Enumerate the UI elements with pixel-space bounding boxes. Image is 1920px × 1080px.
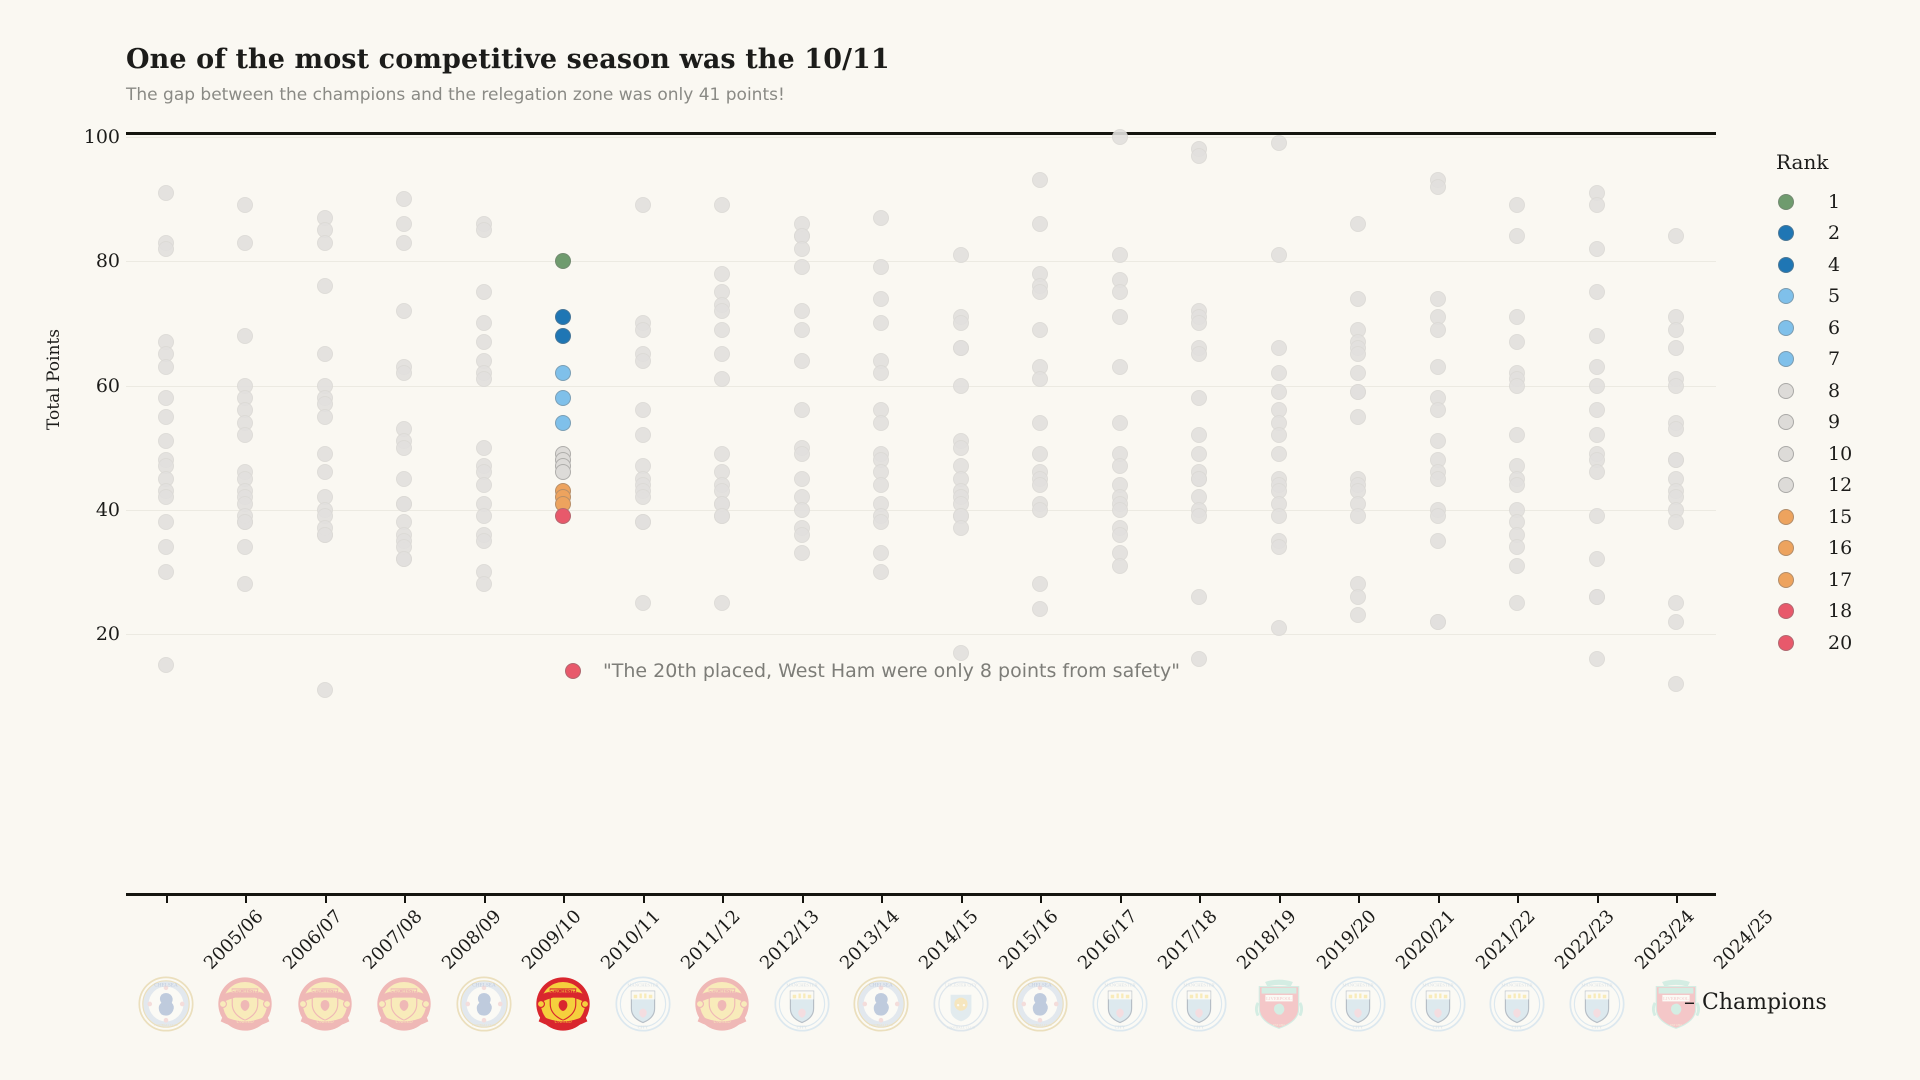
data-point — [794, 545, 810, 561]
svg-text:MANCHESTER: MANCHESTER — [1581, 984, 1613, 989]
data-point — [1589, 241, 1605, 257]
data-point — [1668, 514, 1684, 530]
gridline — [126, 386, 1716, 387]
data-point — [714, 303, 730, 319]
svg-text:UNITED: UNITED — [316, 1020, 334, 1025]
data-point — [1350, 365, 1366, 381]
x-axis-tick-label: 2013/14 — [836, 906, 904, 974]
data-point — [158, 657, 174, 673]
champion-badge-icon: LIVERPOOL EST 1892 — [1250, 975, 1308, 1033]
data-point — [1032, 172, 1048, 188]
data-point — [1032, 601, 1048, 617]
data-point — [1668, 340, 1684, 356]
data-point — [1430, 508, 1446, 524]
data-point — [1589, 464, 1605, 480]
legend-item-label: 12 — [1828, 474, 1852, 496]
data-point — [1271, 620, 1287, 636]
champion-badge-icon: CHELSEA FOOTBALL CLUB — [1011, 975, 1069, 1033]
legend-item[interactable]: 18 — [1778, 596, 1908, 628]
data-point — [158, 514, 174, 530]
svg-text:CITY: CITY — [1194, 1025, 1205, 1030]
data-point — [1271, 446, 1287, 462]
data-point — [1668, 228, 1684, 244]
svg-text:MANCHESTER: MANCHESTER — [707, 989, 739, 994]
data-point — [873, 514, 889, 530]
data-point — [1668, 452, 1684, 468]
x-axis-tick — [881, 893, 883, 903]
data-point — [1668, 595, 1684, 611]
champion-badge-icon: MANCHESTER UNITED — [296, 975, 354, 1033]
data-point — [1668, 676, 1684, 692]
data-point — [953, 315, 969, 331]
x-axis-tick-label: 2024/25 — [1710, 906, 1778, 974]
svg-text:FOOTBALL CLUB: FOOTBALL CLUB — [870, 1023, 893, 1027]
legend-item[interactable]: 17 — [1778, 564, 1908, 596]
data-point — [476, 284, 492, 300]
data-point — [317, 446, 333, 462]
legend-title: Rank — [1776, 150, 1908, 174]
data-point — [1430, 291, 1446, 307]
legend-swatch-icon — [1778, 225, 1794, 241]
data-point — [794, 527, 810, 543]
data-point — [1350, 384, 1366, 400]
data-point — [1032, 446, 1048, 462]
legend-item-label: 20 — [1828, 632, 1852, 654]
data-point — [794, 259, 810, 275]
data-point — [794, 353, 810, 369]
data-point — [237, 197, 253, 213]
champion-badge-icon: MANCHESTER CITY — [614, 975, 672, 1033]
data-point — [396, 216, 412, 232]
legend-item[interactable]: 2 — [1778, 218, 1908, 250]
data-point — [1271, 427, 1287, 443]
x-axis-tick-label: 2009/10 — [518, 906, 586, 974]
data-point — [1350, 607, 1366, 623]
data-point — [635, 197, 651, 213]
legend-item-label: 6 — [1828, 317, 1840, 339]
data-point — [1430, 433, 1446, 449]
data-point — [1509, 309, 1525, 325]
data-point — [953, 645, 969, 661]
legend-item-label: 15 — [1828, 506, 1852, 528]
data-point — [1112, 284, 1128, 300]
data-point — [1589, 651, 1605, 667]
data-point — [317, 682, 333, 698]
svg-text:MANCHESTER: MANCHESTER — [1422, 984, 1454, 989]
data-point — [714, 595, 730, 611]
data-point — [476, 533, 492, 549]
data-point — [1271, 135, 1287, 151]
data-point — [1032, 477, 1048, 493]
svg-text:CHELSEA: CHELSEA — [870, 983, 894, 989]
x-axis-tick-label: 2012/13 — [756, 906, 824, 974]
svg-text:MANCHESTER: MANCHESTER — [1104, 984, 1136, 989]
legend-swatch-icon — [1778, 257, 1794, 273]
legend-item[interactable]: 4 — [1778, 249, 1908, 281]
data-point — [1032, 576, 1048, 592]
svg-text:MANCHESTER: MANCHESTER — [389, 989, 421, 994]
legend-swatch-icon — [1778, 446, 1794, 462]
legend-item-label: 9 — [1828, 411, 1840, 433]
data-point — [1350, 409, 1366, 425]
legend-item-label: 4 — [1828, 254, 1840, 276]
legend-item-label: 1 — [1828, 191, 1840, 213]
data-point — [1430, 359, 1446, 375]
svg-text:UNITED: UNITED — [396, 1020, 414, 1025]
data-point — [1589, 328, 1605, 344]
scatter-plot-area: 20406080100 — [126, 133, 1716, 893]
data-point — [873, 365, 889, 381]
data-point — [1350, 346, 1366, 362]
data-point — [1350, 291, 1366, 307]
data-point — [1430, 471, 1446, 487]
svg-text:FOOTBALL CLUB: FOOTBALL CLUB — [472, 1023, 495, 1027]
legend-swatch-icon — [1778, 509, 1794, 525]
svg-text:UNITED: UNITED — [714, 1020, 732, 1025]
data-point — [873, 477, 889, 493]
data-point — [1589, 402, 1605, 418]
data-point — [794, 446, 810, 462]
rank-legend: Rank 1245678910121516171820 — [1778, 150, 1908, 659]
data-point — [794, 241, 810, 257]
svg-text:CITY: CITY — [1114, 1025, 1125, 1030]
legend-swatch-icon — [1778, 351, 1794, 367]
champion-badge-icon: CHELSEA FOOTBALL CLUB — [455, 975, 513, 1033]
legend-item[interactable]: 16 — [1778, 533, 1908, 565]
data-point — [158, 185, 174, 201]
data-point — [1509, 334, 1525, 350]
legend-swatch-icon — [1778, 603, 1794, 619]
data-point — [317, 346, 333, 362]
chart-subtitle: The gap between the champions and the re… — [126, 85, 1726, 105]
legend-swatch-icon — [1778, 320, 1794, 336]
data-point — [396, 191, 412, 207]
data-point — [1430, 322, 1446, 338]
data-point — [1668, 378, 1684, 394]
svg-text:UNITED: UNITED — [237, 1020, 255, 1025]
svg-text:UNITED: UNITED — [555, 1020, 573, 1025]
legend-item[interactable]: 15 — [1778, 501, 1908, 533]
data-point — [317, 235, 333, 251]
legend-swatch-icon — [1778, 540, 1794, 556]
data-point-highlighted — [555, 309, 571, 325]
y-axis-tick-label: 60 — [60, 375, 120, 397]
data-point — [1589, 589, 1605, 605]
x-axis-tick — [1120, 893, 1122, 903]
champion-badge-icon: MANCHESTER UNITED — [534, 975, 592, 1033]
svg-text:LIVERPOOL: LIVERPOOL — [1266, 997, 1292, 1002]
x-axis-tick — [1517, 893, 1519, 903]
annotation-text: "The 20th placed, West Ham were only 8 p… — [603, 660, 1180, 682]
data-point — [873, 315, 889, 331]
champion-badge-icon: MANCHESTER CITY — [1488, 975, 1546, 1033]
data-point — [476, 334, 492, 350]
data-point — [635, 489, 651, 505]
data-point — [1509, 228, 1525, 244]
champion-badge-icon: MANCHESTER UNITED — [375, 975, 433, 1033]
data-point — [635, 514, 651, 530]
x-axis-tick — [325, 893, 327, 903]
x-axis-tick-label: 2014/15 — [915, 906, 983, 974]
y-axis-tick-label: 20 — [60, 623, 120, 645]
data-point — [1430, 179, 1446, 195]
x-axis-tick — [484, 893, 486, 903]
data-point — [714, 371, 730, 387]
data-point — [1589, 508, 1605, 524]
champion-badge-icon: MANCHESTER UNITED — [216, 975, 274, 1033]
svg-text:EST 1892: EST 1892 — [1273, 1023, 1285, 1027]
x-axis-tick-label: 2016/17 — [1074, 906, 1142, 974]
data-point — [1112, 502, 1128, 518]
data-point — [794, 502, 810, 518]
x-axis-line — [126, 893, 1716, 896]
data-point — [1191, 148, 1207, 164]
x-axis-tick — [722, 893, 724, 903]
svg-text:MANCHESTER: MANCHESTER — [1343, 984, 1375, 989]
x-axis-tick — [1279, 893, 1281, 903]
svg-text:EST 1892: EST 1892 — [1670, 1023, 1682, 1027]
data-point — [237, 235, 253, 251]
data-point — [953, 340, 969, 356]
data-point-highlighted — [555, 253, 571, 269]
svg-text:FOOTBALL CLUB: FOOTBALL CLUB — [1029, 1023, 1052, 1027]
svg-text:MANCHESTER: MANCHESTER — [786, 984, 818, 989]
data-point-highlighted — [555, 365, 571, 381]
data-point — [635, 402, 651, 418]
x-axis-tick — [802, 893, 804, 903]
data-point — [158, 539, 174, 555]
data-point — [1112, 558, 1128, 574]
data-point — [1032, 216, 1048, 232]
svg-text:LEICESTER CITY: LEICESTER CITY — [945, 983, 977, 988]
data-point — [476, 508, 492, 524]
x-axis-tick-label: 2022/23 — [1551, 906, 1619, 974]
legend-item[interactable]: 9 — [1778, 407, 1908, 439]
data-point — [396, 365, 412, 381]
data-point — [317, 527, 333, 543]
x-axis-tick-label: 2017/18 — [1154, 906, 1222, 974]
champion-badge-icon: MANCHESTER CITY — [1568, 975, 1626, 1033]
data-point — [1589, 359, 1605, 375]
data-point — [1191, 315, 1207, 331]
data-point — [635, 595, 651, 611]
x-axis-tick-label: 2023/24 — [1631, 906, 1699, 974]
svg-text:MANCHESTER: MANCHESTER — [1184, 984, 1216, 989]
data-point — [873, 210, 889, 226]
data-point — [953, 520, 969, 536]
data-point — [396, 496, 412, 512]
data-point — [714, 346, 730, 362]
data-point — [1112, 415, 1128, 431]
x-axis-tick-label: 2006/07 — [279, 906, 347, 974]
data-point — [1191, 471, 1207, 487]
data-point — [1112, 458, 1128, 474]
data-point — [1589, 551, 1605, 567]
x-axis-tick-label: 2007/08 — [359, 906, 427, 974]
svg-text:CITY: CITY — [1512, 1025, 1523, 1030]
champion-badge-icon: MANCHESTER CITY — [1170, 975, 1228, 1033]
legend-item[interactable]: 10 — [1778, 438, 1908, 470]
data-point — [953, 247, 969, 263]
svg-text:CITY: CITY — [637, 1025, 648, 1030]
data-point — [1509, 197, 1525, 213]
data-point — [873, 545, 889, 561]
data-point — [714, 266, 730, 282]
legend-item-label: 8 — [1828, 380, 1840, 402]
champion-badge-icon: MANCHESTER UNITED — [693, 975, 751, 1033]
data-point — [317, 278, 333, 294]
data-point — [714, 446, 730, 462]
y-axis-tick-label: 100 — [60, 126, 120, 148]
data-point — [714, 322, 730, 338]
data-point — [1112, 309, 1128, 325]
x-axis-tick — [643, 893, 645, 903]
data-point — [1191, 508, 1207, 524]
data-point — [1112, 527, 1128, 543]
data-point — [1509, 595, 1525, 611]
legend-item[interactable]: 20 — [1778, 627, 1908, 659]
data-point — [1191, 390, 1207, 406]
gridline — [126, 634, 1716, 635]
data-point — [396, 235, 412, 251]
data-point — [1668, 322, 1684, 338]
legend-item-label: 10 — [1828, 443, 1852, 465]
data-point — [1271, 365, 1287, 381]
data-point — [317, 464, 333, 480]
data-point — [1191, 427, 1207, 443]
data-point — [476, 222, 492, 238]
data-point — [476, 371, 492, 387]
svg-text:MANCHESTER: MANCHESTER — [548, 989, 580, 994]
data-point — [158, 489, 174, 505]
data-point — [1112, 247, 1128, 263]
legend-item-label: 2 — [1828, 222, 1840, 244]
data-point — [635, 427, 651, 443]
x-axis-tick — [1676, 893, 1678, 903]
legend-item[interactable]: 1 — [1778, 186, 1908, 218]
data-point — [1191, 651, 1207, 667]
data-point — [1509, 427, 1525, 443]
data-point — [237, 427, 253, 443]
data-point — [1032, 502, 1048, 518]
x-axis-tick — [1438, 893, 1440, 903]
annotation-callout: "The 20th placed, West Ham were only 8 p… — [565, 660, 1180, 682]
legend-item-label: 5 — [1828, 285, 1840, 307]
data-point — [1032, 371, 1048, 387]
y-axis-tick-label: 40 — [60, 499, 120, 521]
x-axis-tick-label: 2015/16 — [995, 906, 1063, 974]
legend-item[interactable]: 5 — [1778, 281, 1908, 313]
data-point — [1430, 402, 1446, 418]
svg-text:FOOTBALL CLUB: FOOTBALL CLUB — [154, 1023, 177, 1027]
svg-text:MANCHESTER: MANCHESTER — [627, 984, 659, 989]
legend-swatch-icon — [1778, 572, 1794, 588]
data-point — [1668, 421, 1684, 437]
champion-badge-icon: MANCHESTER CITY — [1409, 975, 1467, 1033]
legend-item[interactable]: 6 — [1778, 312, 1908, 344]
legend-swatch-icon — [1778, 477, 1794, 493]
data-point — [873, 291, 889, 307]
data-point — [396, 303, 412, 319]
data-point — [1191, 446, 1207, 462]
champion-badge-icon: CHELSEA FOOTBALL CLUB — [137, 975, 195, 1033]
legend-item[interactable]: 8 — [1778, 375, 1908, 407]
data-point — [635, 322, 651, 338]
data-point — [794, 471, 810, 487]
data-point — [1191, 346, 1207, 362]
champion-badge-icon: LEICESTER CITY FOOTBALL CLUB — [932, 975, 990, 1033]
data-point — [1112, 359, 1128, 375]
data-point — [396, 471, 412, 487]
data-point — [476, 576, 492, 592]
data-point — [1032, 322, 1048, 338]
data-point — [873, 259, 889, 275]
x-axis-tick-label: 2020/21 — [1392, 906, 1460, 974]
data-point — [1271, 384, 1287, 400]
data-point — [158, 564, 174, 580]
data-point — [158, 359, 174, 375]
svg-text:CHELSEA: CHELSEA — [154, 983, 178, 989]
x-axis-tick — [1040, 893, 1042, 903]
data-point — [1509, 558, 1525, 574]
data-point — [158, 241, 174, 257]
x-axis-tick — [404, 893, 406, 903]
x-axis-tick — [1597, 893, 1599, 903]
svg-text:CITY: CITY — [796, 1025, 807, 1030]
gridline — [126, 137, 1716, 138]
data-point — [1191, 589, 1207, 605]
svg-text:CITY: CITY — [1591, 1025, 1602, 1030]
data-point — [158, 390, 174, 406]
data-point — [873, 564, 889, 580]
data-point — [1350, 216, 1366, 232]
legend-item[interactable]: 7 — [1778, 344, 1908, 376]
legend-swatch-icon — [1778, 288, 1794, 304]
gridline — [126, 510, 1716, 511]
data-point — [317, 409, 333, 425]
legend-swatch-icon — [1778, 383, 1794, 399]
data-point-highlighted — [555, 415, 571, 431]
champion-badge-icon: MANCHESTER CITY — [1329, 975, 1387, 1033]
data-point — [1032, 415, 1048, 431]
x-axis-tick — [563, 893, 565, 903]
legend-swatch-icon — [1778, 635, 1794, 651]
data-point — [1271, 247, 1287, 263]
data-point — [1430, 614, 1446, 630]
champions-legend-label: – Champions — [1684, 990, 1827, 1015]
data-point — [1430, 533, 1446, 549]
data-point — [1509, 477, 1525, 493]
data-point — [1509, 539, 1525, 555]
data-point — [1271, 340, 1287, 356]
data-point — [1589, 197, 1605, 213]
data-point — [158, 433, 174, 449]
data-point — [1350, 508, 1366, 524]
data-point — [1350, 589, 1366, 605]
champion-badge-icon: MANCHESTER CITY — [1091, 975, 1149, 1033]
x-axis-tick — [166, 893, 168, 903]
x-axis-tick-label: 2005/06 — [200, 906, 268, 974]
page-title: One of the most competitive season was t… — [126, 44, 1726, 75]
y-axis-tick-label: 80 — [60, 250, 120, 272]
y-axis-title: Total Points — [44, 329, 64, 430]
data-point — [237, 576, 253, 592]
legend-item[interactable]: 12 — [1778, 470, 1908, 502]
data-point — [1271, 539, 1287, 555]
legend-swatch-icon — [1778, 414, 1794, 430]
svg-text:MANCHESTER: MANCHESTER — [230, 989, 262, 994]
x-axis-tick-label: 2018/19 — [1233, 906, 1301, 974]
